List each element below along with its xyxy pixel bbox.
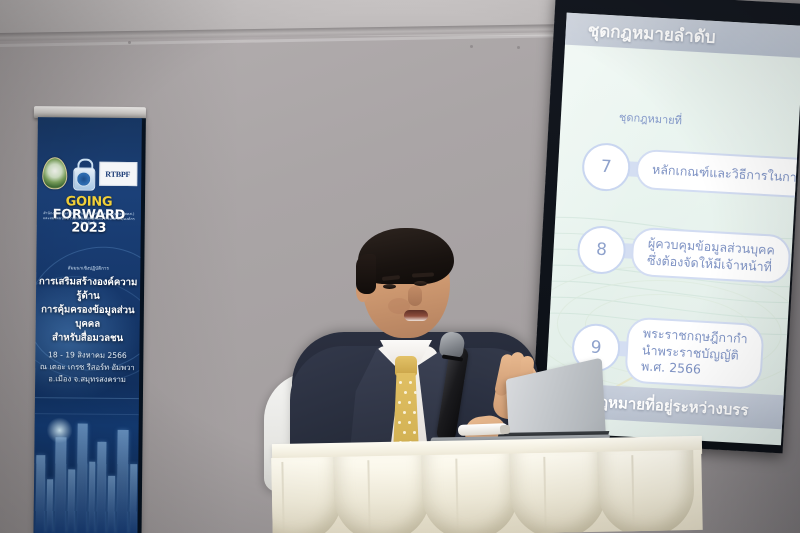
nose: [408, 286, 422, 306]
banner-title: การเสริมสร้างองค์ความรู้ด้าน การคุ้มครอง…: [38, 275, 139, 346]
table-skirt: [271, 450, 702, 533]
photo-scene: ชุดกฎหมายลำดับ ชุดกฎหมายที่: [0, 0, 800, 533]
slide-item-number: 8: [576, 224, 627, 275]
rtbpf-logo-text: RTBPF: [105, 169, 130, 178]
banner-venue-line-1: ณ เดอะ เกรซ รีสอร์ท อัมพวา: [37, 361, 137, 374]
sideburn: [356, 254, 376, 294]
slide-subtitle: ชุดกฎหมายที่: [619, 108, 683, 129]
eye-left: [383, 284, 396, 289]
pen-cap: [500, 425, 510, 434]
pdpc-padlock-logo-icon: [72, 158, 94, 188]
rtbpf-logo-icon: RTBPF: [99, 162, 137, 186]
banner-logo-row: RTBPF: [37, 155, 141, 192]
wall-screw-icon: [517, 46, 520, 49]
slide-item-number: 7: [581, 142, 632, 193]
government-crest-logo-icon: [42, 157, 67, 189]
slide-item-7: 7 หลักเกณฑ์และวิธีการในกา: [581, 142, 800, 203]
banner-stand: RTBPF GOING FORWARD 2023 สำนักงานคณะกรรม…: [26, 106, 146, 533]
banner-title-line-2: การคุ้มครองข้อมูลส่วนบุคคล: [38, 303, 138, 332]
banner-org-line-2: และสมาคมนักข่าวนักหนังสือพิมพ์แห่งประเทศ…: [41, 216, 137, 227]
banner-title-line-1: การเสริมสร้างองค์ความรู้ด้าน: [38, 275, 138, 304]
banner-event-kind: สัมมนาเชิงปฏิบัติการ: [40, 265, 136, 273]
banner-title-line-3: สำหรับสื่อมวลชน: [38, 331, 138, 346]
wall-screw-icon: [470, 45, 473, 48]
slide-item-text: หลักเกณฑ์และวิธีการในกา: [635, 149, 800, 199]
slide-title: ชุดกฎหมายลำดับ: [587, 16, 716, 50]
slide-item-text: พระราชกฤษฎีกากำ นำพระราชบัญญัติ พ.ศ. 256…: [624, 317, 764, 390]
slide-item-text: ผู้ควบคุมข้อมูลส่วนบุคค ซึ่งต้องจัดให้มี…: [630, 227, 792, 285]
banner-date-venue: 18 - 19 สิงหาคม 2566 ณ เดอะ เกรซ รีสอร์ท…: [37, 349, 137, 385]
speaker-table: [272, 440, 702, 533]
banner-date: 18 - 19 สิงหาคม 2566: [37, 349, 137, 362]
mouth: [404, 310, 428, 321]
banner-panel: RTBPF GOING FORWARD 2023 สำนักงานคณะกรรม…: [34, 117, 142, 533]
banner-city-skyline: [34, 383, 140, 533]
banner-org-lines: สำนักงานคณะกรรมการคุ้มครองข้อมูลส่วนบุคค…: [41, 211, 137, 228]
slide-item-line: หลักเกณฑ์และวิธีการในกา: [652, 161, 798, 186]
